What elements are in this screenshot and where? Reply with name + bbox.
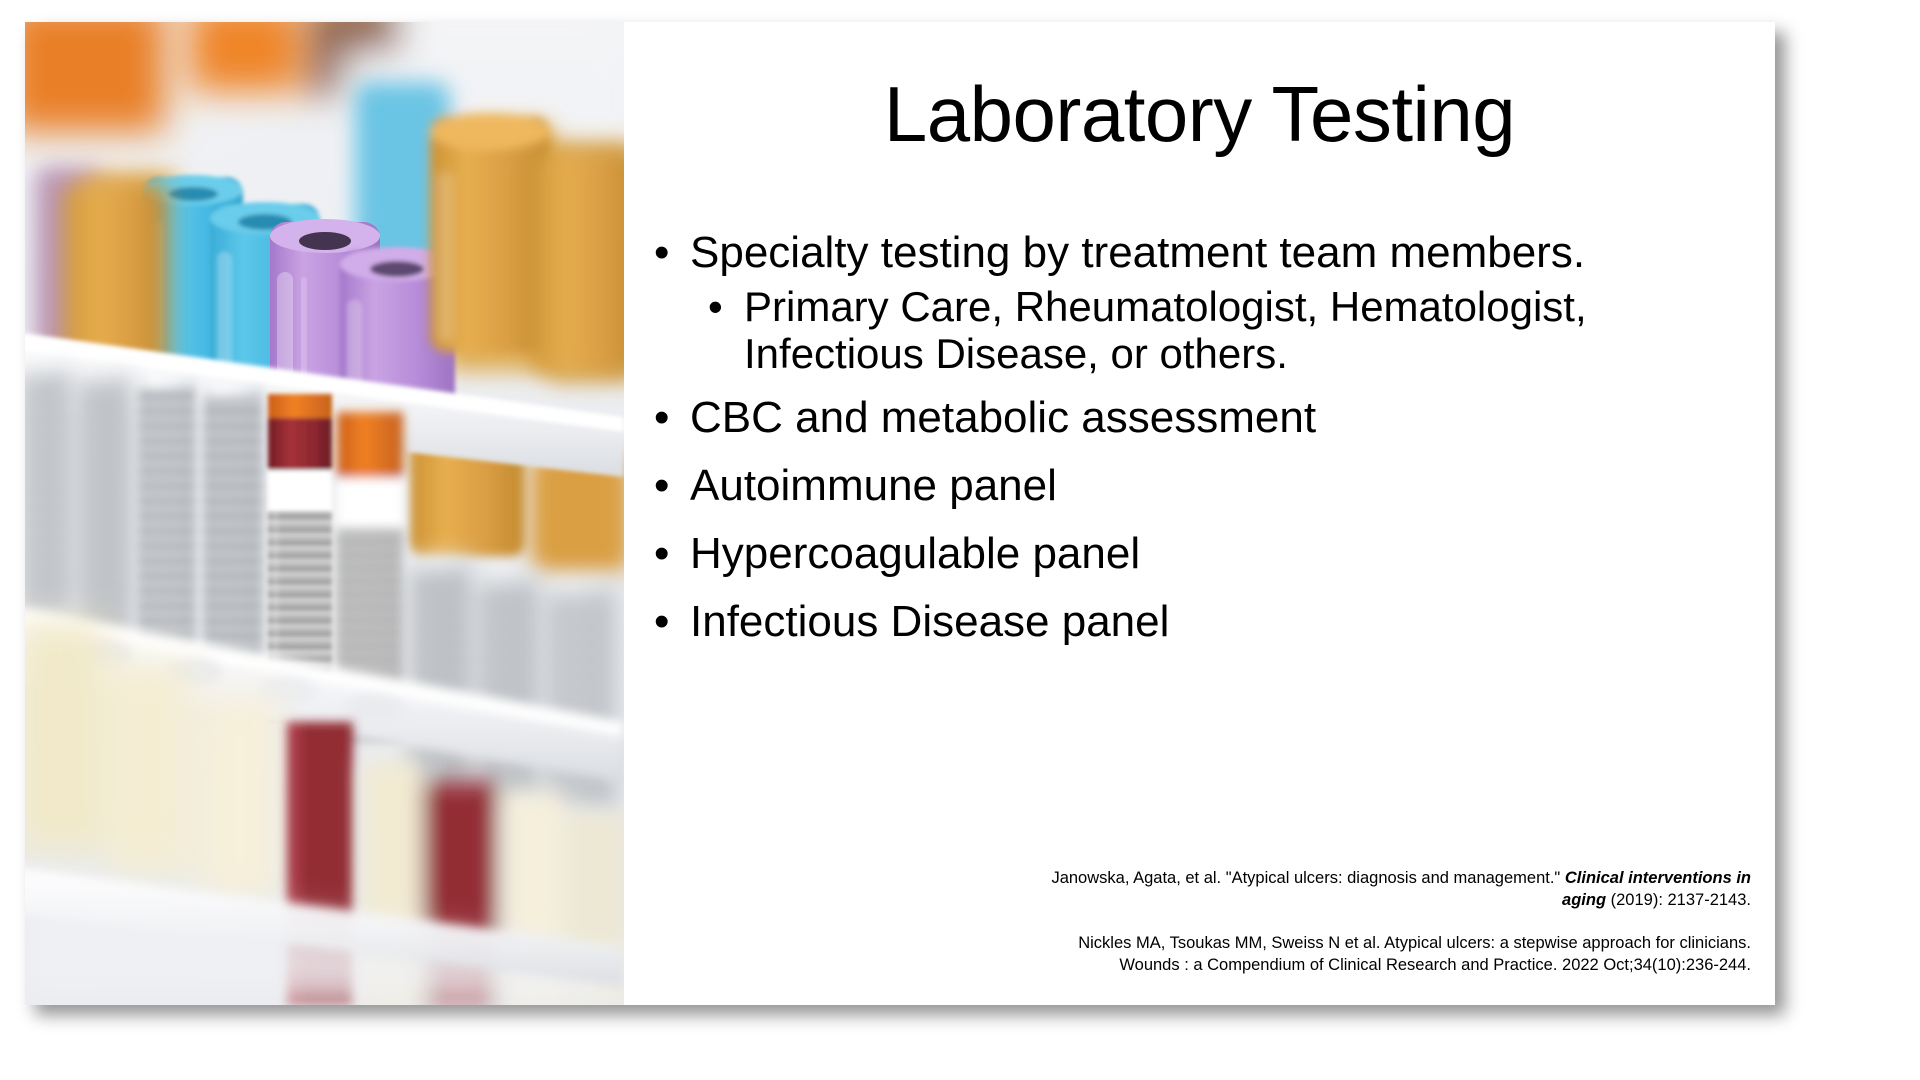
slide-content-area: Laboratory Testing • Specialty testing b… (624, 22, 1775, 1005)
citation-text-part1: Janowska, Agata, et al. "Atypical ulcers… (1051, 869, 1564, 887)
page-title: Laboratory Testing (624, 74, 1775, 155)
bullet-marker-icon: • (654, 392, 669, 444)
list-item: • Autoimmune panel (646, 460, 1746, 512)
citation-block: Janowska, Agata, et al. "Atypical ulcers… (1051, 868, 1751, 977)
citation-text-part2: (2019): 2137-2143. (1606, 891, 1751, 909)
bullet-list: • Specialty testing by treatment team me… (646, 227, 1746, 663)
citation-entry: Janowska, Agata, et al. "Atypical ulcers… (1051, 868, 1751, 912)
list-item-text: Primary Care, Rheumatologist, Hematologi… (744, 283, 1587, 377)
bullet-marker-icon: • (654, 227, 669, 279)
presentation-slide: Laboratory Testing • Specialty testing b… (25, 22, 1775, 1005)
citation-entry: Nickles MA, Tsoukas MM, Sweiss N et al. … (1051, 933, 1751, 977)
list-item: • Hypercoagulable panel (646, 528, 1746, 580)
list-item: • Specialty testing by treatment team me… (646, 227, 1746, 279)
list-item-text: Hypercoagulable panel (690, 529, 1140, 578)
bullet-marker-icon: • (654, 528, 669, 580)
list-item: • Infectious Disease panel (646, 596, 1746, 648)
screenshot-canvas: Laboratory Testing • Specialty testing b… (0, 0, 1920, 1080)
citation-text-part1: Nickles MA, Tsoukas MM, Sweiss N et al. … (1078, 934, 1751, 974)
list-item-text: CBC and metabolic assessment (690, 393, 1316, 442)
bullet-marker-icon: • (708, 283, 723, 330)
bullet-marker-icon: • (654, 460, 669, 512)
bullet-marker-icon: • (654, 596, 669, 648)
list-item: • CBC and metabolic assessment (646, 392, 1746, 444)
list-item-text: Autoimmune panel (690, 461, 1057, 510)
list-item: • Primary Care, Rheumatologist, Hematolo… (646, 283, 1746, 378)
list-item-text: Infectious Disease panel (690, 597, 1169, 646)
lab-tubes-photo (25, 22, 624, 1005)
list-item-text: Specialty testing by treatment team memb… (690, 228, 1585, 277)
